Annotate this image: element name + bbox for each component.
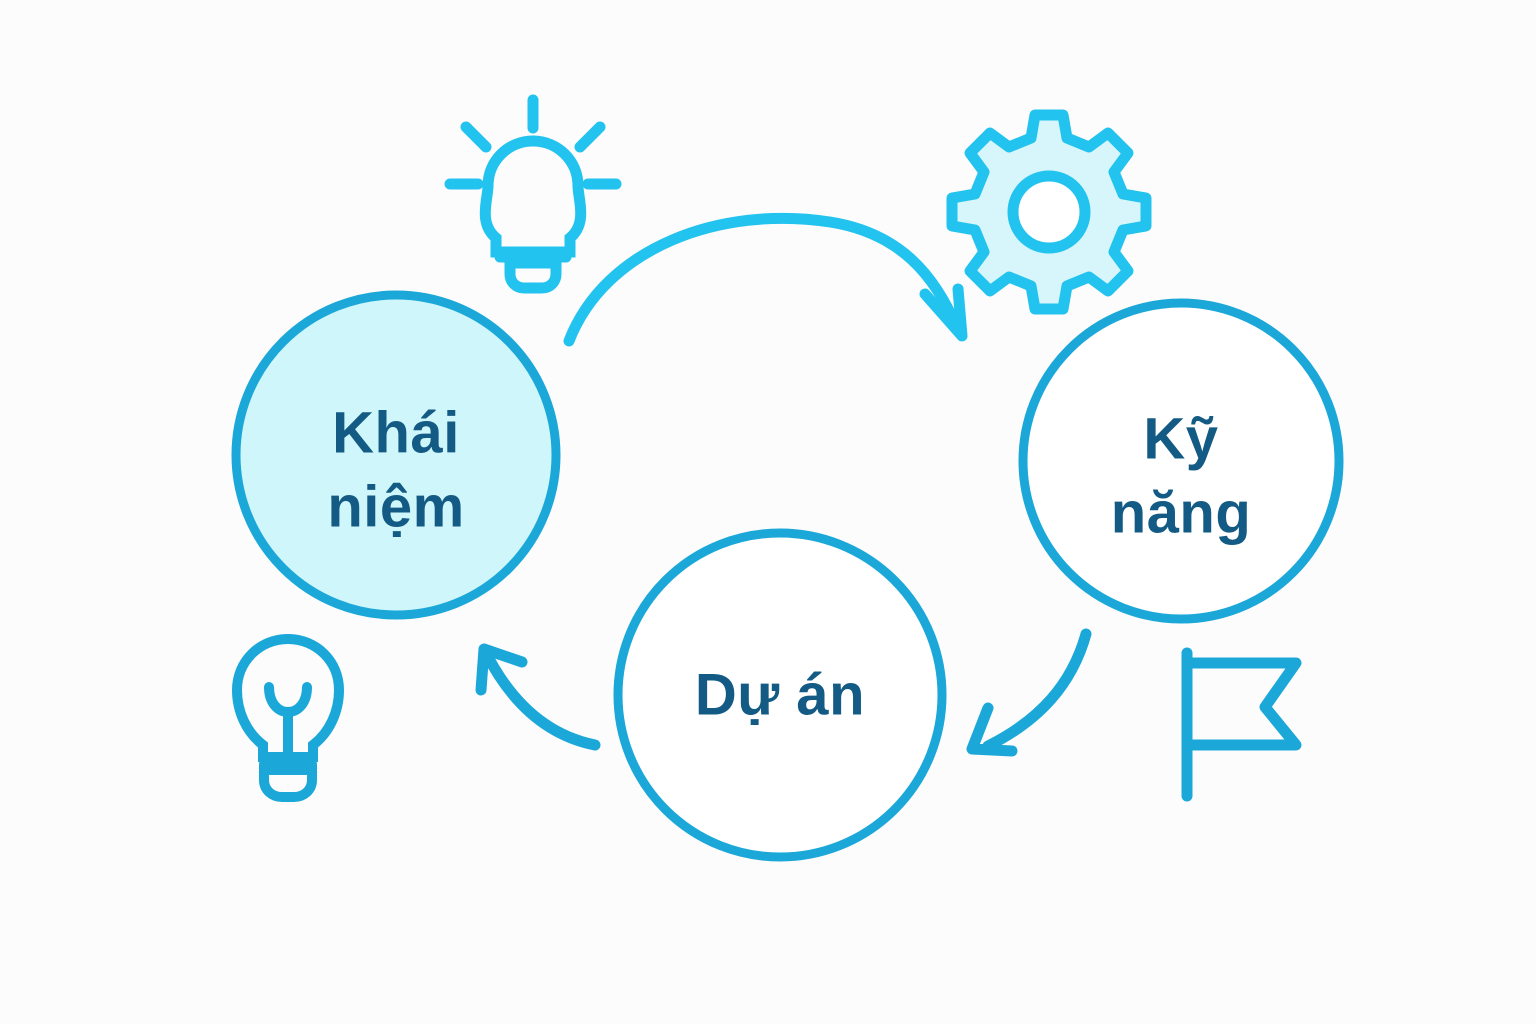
node-ky-nang-label-line2: năng — [1111, 480, 1252, 545]
node-du-an[interactable]: Dự án — [618, 533, 942, 857]
node-khai-niem[interactable]: Khái niệm — [236, 295, 556, 615]
arrow-skill-to-project-head — [972, 708, 1012, 751]
flag-icon — [1187, 653, 1296, 796]
node-du-an-label: Dự án — [695, 662, 865, 727]
arrow-concept-to-skill-path — [569, 218, 958, 341]
lightbulb-filament-screw-base — [264, 770, 312, 797]
arrow-concept-to-skill — [569, 218, 962, 341]
flag-banner — [1187, 663, 1296, 745]
cycle-diagram: Khái niệm Kỹ năng Dự án — [0, 0, 1536, 1024]
gear-center-hole — [1013, 176, 1085, 248]
node-khai-niem-label-line1: Khái — [332, 400, 460, 465]
arrow-project-to-concept-path — [486, 653, 595, 745]
lightbulb-rays-icon — [450, 100, 616, 288]
lightbulb-ray-upper-right — [580, 127, 600, 147]
diagram-canvas: Khái niệm Kỹ năng Dự án — [0, 0, 1536, 1024]
lightbulb-screw-base — [510, 263, 556, 288]
arrow-skill-to-project — [972, 634, 1086, 751]
arrow-project-to-concept — [481, 649, 595, 745]
gear-icon — [952, 115, 1146, 309]
node-ky-nang[interactable]: Kỹ năng — [1023, 303, 1339, 619]
lightbulb-filament-icon — [237, 639, 339, 797]
node-khai-niem-label-line2: niệm — [327, 474, 464, 539]
node-ky-nang-label-line1: Kỹ — [1143, 406, 1218, 471]
arrow-skill-to-project-path — [988, 634, 1086, 746]
lightbulb-ray-upper-left — [466, 127, 486, 147]
lightbulb-glass — [485, 141, 581, 252]
